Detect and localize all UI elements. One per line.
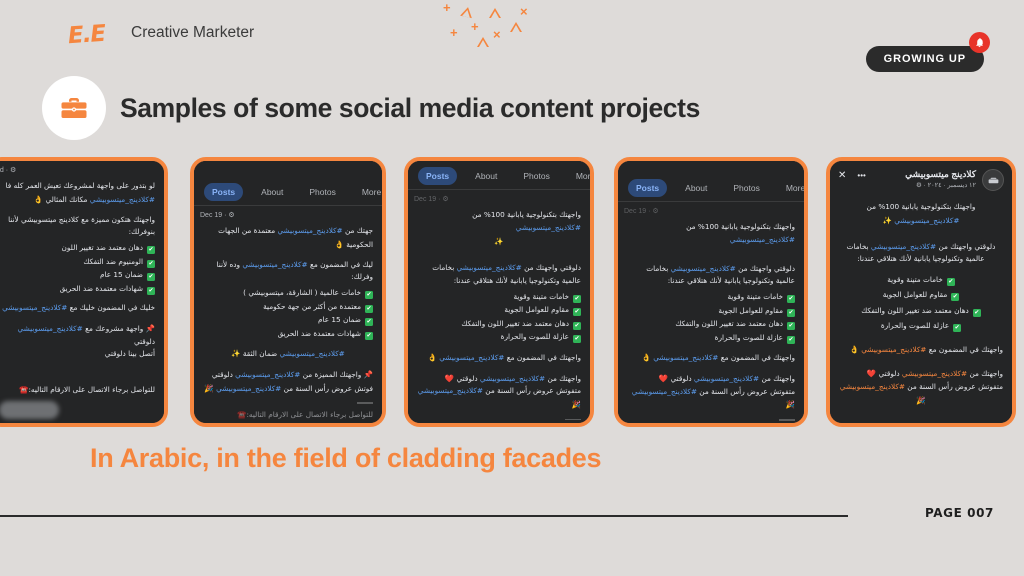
hashtag[interactable]: #كلادينج_ميتسوبيشي [439,353,504,362]
check-icon: ✔ [573,295,581,303]
check-icon: ✔ [947,278,955,286]
post-line: أتصل بينا دلوقتي [0,348,155,361]
check-icon: ✔ [787,336,795,344]
list-item: ✔شهادات معتمدة ضد الحريق [0,282,155,295]
post-text: جهتك من [345,226,373,235]
ok-hand-emoji: 👌 [850,345,859,354]
post-line: #كلادينج_ميتسوبيشي ضمان الثقة ✨ [203,347,373,361]
list-item: ✔دهان معتمد ضد تغيير اللون [0,241,155,254]
profile-tabbar[interactable]: Posts About Photos More▾ [408,161,590,190]
tab-about[interactable]: About [253,183,291,201]
tab-posts[interactable]: Posts [418,167,457,185]
hashtag[interactable]: #كلادينج_ميتسوبيشي [2,303,67,312]
profile-tabbar[interactable]: Posts About Photos More▾ [618,173,804,202]
list-item: ✔خامات متينة وقوية [839,272,1003,287]
post-text: متفوتش عروض رأس السنة من [699,387,795,396]
gear-icon: ⚙ [916,182,922,189]
tab-photos[interactable]: Photos [515,167,557,185]
post-line: متفوتش عروض رأس السنة من #كلادينج_ميتسوب… [417,385,581,412]
avatar[interactable] [982,169,1004,191]
post-body: لو بتدور على واجهة لمشروعك تعيش العمر كل… [0,176,164,423]
hashtag[interactable]: #كلادينج_ميتسوبيشي [861,345,926,354]
post-line: واجهتك في المضمون مع #كلادينج_ميتسوبيشي … [417,351,581,365]
post-timestamp: Dec 19 · ⚙ [408,190,590,205]
post-line: واجهتك من #كلادينج_ميتسوبيشي دلوقتي ❤️ [417,372,581,386]
feature-list: ✔خامات عالمية ( الشارقة، ميتسوبيشي ) ✔مع… [203,286,373,340]
ok-hand-emoji: 👌 [642,353,651,362]
confetti-decoration: + × + + × [425,0,555,55]
post-text: دلوقتي [457,374,478,383]
list-item: ✔خامات عالمية ( الشارقة، ميتسوبيشي ) [203,286,373,299]
post-body: واجهتك بتكنولوجية يابانية 100% من #كلادي… [830,193,1012,413]
hashtag[interactable]: #كلادينج_ميتسوبيشي [216,384,281,393]
hashtag[interactable]: #كلادينج_ميتسوبيشي [730,235,795,244]
hashtag[interactable]: #كلادينج_ميتسوبيشي [694,374,759,383]
post-text: ليك في المضمون مع [310,260,373,269]
post-text: ضمان الثقة [243,349,277,358]
check-icon: ✔ [365,318,373,326]
list-item: ✔عازلة للصوت والحرارة [417,330,581,343]
check-icon: ✔ [365,291,373,299]
post-text: واجهتك في المضمون مع [507,353,581,362]
check-icon: ✔ [973,309,981,317]
post-body: جهتك من #كلادينج_ميتسوبيشي معتمدة من الج… [194,221,382,423]
post-text: واجهة مشروعك مع [85,324,143,333]
check-icon: ✔ [147,246,155,254]
post-date: ١٢ ديسمبر · ٢٠٢٤ · ⚙ [872,181,976,191]
list-item: ✔ضمان 15 عام [203,313,373,326]
screenshot-card[interactable]: Posts About Photos More▾ Dec 19 · ⚙ جهتك… [190,157,386,427]
screenshot-card[interactable]: 1d · ⚙ لو بتدور على واجهة لمشروعك تعيش ا… [0,157,168,427]
hashtag[interactable]: #كلادينج_ميتسوبيشي [418,386,483,395]
post-text: واجهتك بتكنولوجية يابانية 100% من [472,210,581,219]
triangle-icon [460,6,474,18]
list-item: ✔خامات متينة وقوية [627,290,795,303]
hashtag[interactable]: #كلادينج_ميتسوبيشي [18,324,83,333]
post-line: جهتك من #كلادينج_ميتسوبيشي معتمدة من الج… [203,225,373,252]
post-text: دلوقتي واجهتك من [738,264,795,273]
feature-list: ✔دهان معتمد ضد تغيير اللون ✔الومنيوم ضد … [0,241,155,295]
list-item: ✔خامات متينة وقوية [417,290,581,303]
page-header: Samples of some social media content pro… [42,76,700,140]
list-item: ✔معتمدة من أكثر من جهة حكومية [203,300,373,313]
post-text: واجهتك في المضمون مع [929,345,1003,354]
post-text: فوتش عروض رأس السنة من [284,384,373,393]
post-line: واجهتك من #كلادينج_ميتسوبيشي دلوقتي ❤️ [627,372,795,386]
post-text: واجهتك بتكنولوجية يابانية 100% من [686,222,795,231]
contact-line: للتواصل برجاء الاتصال على الارقام التالي… [203,408,373,422]
triangle-icon [510,22,522,32]
check-icon: ✔ [147,260,155,268]
contact-line: للتواصل برجاء الاتصال على الارقام التالي… [0,383,155,397]
screenshot-card[interactable]: Posts About Photos More▾ Dec 19 · ⚙ واجه… [404,157,594,427]
post-text: واجهتك من [547,374,581,383]
feature-list: ✔خامات متينة وقوية ✔مقاوم للعوامل الجوية… [417,290,581,344]
check-icon: ✔ [147,287,155,295]
post-line: فوتش عروض رأس السنة من #كلادينج_ميتسوبيش… [203,382,373,396]
hashtag[interactable]: #كلادينج_ميتسوبيشي [894,216,959,225]
post-line: خليك في المضمون خليك مع #كلادينج_ميتسوبي… [0,302,155,315]
post-body: واجهتك بتكنولوجية يابانية 100% من #كلادي… [408,205,590,423]
hashtag[interactable]: #كلادينج_ميتسوبيشي [457,263,522,272]
party-emoji: 🎉 [916,396,925,405]
profile-tabbar[interactable]: Posts About Photos More▾ [194,177,382,206]
party-emoji: 🎉 [786,400,795,409]
pin-emoji: 📌 [146,324,155,333]
hashtag[interactable]: #كلادينج_ميتسوبيشي [90,195,155,204]
list-item: ✔ضمان 15 عام [0,268,155,281]
tab-about[interactable]: About [677,179,715,197]
post-line: ✨ [417,235,581,249]
screenshot-card[interactable]: Posts About Photos More▾ Dec 19 · ⚙ واجه… [614,157,808,427]
post-line: واجهتك بتكنولوجية يابانية 100% من [839,201,1003,214]
post-line: دلوقتي واجهتك من #كلادينج_ميتسوبيشي بخام… [417,262,581,288]
check-icon: ✔ [365,305,373,313]
post-line: واجهتك من #كلادينج_ميتسوبيشي دلوقتي ❤️ [839,367,1003,381]
tab-more[interactable]: More▾ [568,167,590,185]
footer-divider [0,515,848,517]
check-icon: ✔ [787,295,795,303]
page-title: Samples of some social media content pro… [120,93,700,124]
tab-posts[interactable]: Posts [628,179,667,197]
post-text: متفوتش عروض رأس السنة من [907,382,1003,391]
gear-icon: ⚙ [10,167,16,174]
heart-emoji: ❤️ [659,374,668,383]
screenshot-card[interactable]: كلادينج ميتسوبيشي ١٢ ديسمبر · ٢٠٢٤ · ⚙ ✕… [826,157,1016,427]
post-line: 🎉 [839,394,1003,408]
post-text: دلوقتي [671,374,692,383]
post-header: كلادينج ميتسوبيشي ١٢ ديسمبر · ٢٠٢٤ · ⚙ ✕… [830,161,1012,193]
ok-hand-emoji: 👌 [428,353,437,362]
list-item: ✔عازلة للصوت والحرارة [839,318,1003,333]
check-icon: ✔ [573,308,581,316]
list-item: ✔شهادات معتمدة ضد الحريق [203,327,373,340]
plus-mark-icon: × [520,5,528,18]
post-timestamp: Dec 19 · ⚙ [194,206,382,221]
sparkle-emoji: ✨ [883,216,892,225]
check-icon: ✔ [147,273,155,281]
post-line: واجهتك بتكنولوجية يابانية 100% من #كلادي… [627,221,795,247]
hashtag[interactable]: #كلادينج_ميتسوبيشي [480,374,545,383]
post-line: دلوقتي واجهتك من #كلادينج_ميتسوبيشي بخام… [839,241,1003,267]
party-emoji: 🎉 [572,400,581,409]
sparkle-emoji: ✨ [231,349,240,358]
screenshot-gallery: 1d · ⚙ لو بتدور على واجهة لمشروعك تعيش ا… [0,157,1024,429]
hashtag[interactable]: #كلادينج_ميتسوبيشي [840,382,905,391]
plus-mark-icon: × [493,28,501,41]
hashtag[interactable]: #كلادينج_ميتسوبيشي [242,260,307,269]
list-item: ✔مقاوم للعوامل الجوية [417,303,581,316]
list-item: ✔مقاوم للعوامل الجوية [839,287,1003,302]
divider [779,419,795,421]
check-icon: ✔ [951,293,959,301]
list-item: ✔الومنيوم ضد التفكك [0,255,155,268]
check-icon: ✔ [365,332,373,340]
ok-hand-emoji: 👌 [34,195,43,204]
hashtag[interactable]: #كلادينج_ميتسوبيشي [871,242,936,251]
post-line: متفوتش عروض رأس السنة من #كلادينج_ميتسوب… [627,386,795,413]
tab-more[interactable]: More▾ [354,183,382,201]
close-icon[interactable]: ✕ [838,170,846,181]
gear-icon: ⚙ [652,208,658,215]
growing-up-label[interactable]: GROWING UP [866,46,984,72]
page-name[interactable]: كلادينج ميتسوبيشي [872,169,976,181]
heart-emoji: ❤️ [867,369,876,378]
bell-icon [969,32,990,53]
post-text: دلوقتي [134,337,155,346]
hashtag[interactable]: #كلادينج_ميتسوبيشي [516,223,581,232]
tab-posts[interactable]: Posts [204,183,243,201]
triangle-icon [489,8,501,18]
hashtag[interactable]: #كلادينج_ميتسوبيشي [653,353,718,362]
pin-emoji: 📌 [364,370,373,379]
divider [565,419,581,421]
tab-about[interactable]: About [467,167,505,185]
redacted-phone-number [0,401,59,419]
divider [357,402,373,404]
post-line: دلوقتي واجهتك من #كلادينج_ميتسوبيشي بخام… [627,263,795,289]
post-timestamp: 1d · ⚙ [0,161,164,176]
post-text: واجهتك من [761,374,795,383]
post-line: واجهتك في المضمون مع #كلادينج_ميتسوبيشي … [627,351,795,365]
list-item: ✔عازلة للصوت والحرارة [627,331,795,344]
post-line: واجهتك في المضمون مع #كلادينج_ميتسوبيشي … [839,343,1003,357]
post-text: دلوقتي واجهتك من [938,242,995,251]
check-icon: ✔ [573,335,581,343]
more-options-icon[interactable]: ••• [857,171,865,180]
hashtag[interactable]: #كلادينج_ميتسوبيشي [235,370,300,379]
list-item: ✔دهان معتمد ضد تغيير اللون والتفكك [627,317,795,330]
post-text: دلوقتي [879,369,900,378]
section-caption: In Arabic, in the field of cladding faca… [90,443,601,474]
post-line: #كلادينج_ميتسوبيشي مكانك المثالي 👌 [0,193,155,207]
hashtag[interactable]: #كلادينج_ميتسوبيشي [277,226,342,235]
post-line: 📌 واجهتك المميزة من #كلادينج_ميتسوبيشي د… [203,368,373,382]
briefcase-icon [42,76,106,140]
brand-logo: E.E [67,21,106,50]
hashtag[interactable]: #كلادينج_ميتسوبيشي [280,349,345,358]
feature-list: ✔خامات متينة وقوية ✔مقاوم للعوامل الجوية… [627,290,795,344]
party-emoji: 🎉 [204,384,213,393]
post-line: ليك في المضمون مع #كلادينج_ميتسوبيشي وده… [203,259,373,285]
post-text: واجهتك من [969,369,1003,378]
post-text: دلوقتي واجهتك من [524,263,581,272]
list-item: ✔مقاوم للعوامل الجوية [627,304,795,317]
post-text: واجهتك المميزة من [303,370,362,379]
gear-icon: ⚙ [442,196,448,203]
post-text: مكانك المثالي [46,195,88,204]
plus-mark-icon: + [471,20,479,33]
growing-up-badge[interactable]: GROWING UP [866,46,984,72]
check-icon: ✔ [573,322,581,330]
list-item: ✔دهان معتمد ضد تغيير اللون والتفكك [839,303,1003,318]
post-text: متفوتش عروض رأس السنة من [485,386,581,395]
check-icon: ✔ [953,324,961,332]
post-timestamp: Dec 19 · ⚙ [618,202,804,217]
post-text: دلوقتي [212,370,233,379]
post-line: لو بتدور على واجهة لمشروعك تعيش العمر كل… [0,180,155,193]
post-text: واجهتك في المضمون مع [721,353,795,362]
post-line: واجهتك هتكون مميزة مع كلادينج ميتسوبيشي … [0,214,155,240]
triangle-icon [477,37,489,47]
check-icon: ✔ [787,309,795,317]
sparkle-emoji: ✨ [494,237,503,246]
post-line: 📌 واجهة مشروعك مع #كلادينج_ميتسوبيشي دلو… [0,322,155,349]
plus-mark-icon: + [443,1,451,14]
hashtag[interactable]: #كلادينج_ميتسوبيشي [632,387,697,396]
tab-photos[interactable]: Photos [725,179,767,197]
page-number: PAGE 007 [925,506,994,520]
tab-photos[interactable]: Photos [301,183,343,201]
hashtag[interactable]: #كلادينج_ميتسوبيشي [671,264,736,273]
post-line: #كلادينج_ميتسوبيشي ✨ [839,214,1003,228]
hashtag[interactable]: #كلادينج_ميتسوبيشي [902,369,967,378]
list-item: ✔دهان معتمد ضد تغيير اللون والتفكك [417,317,581,330]
post-line: متفوتش عروض رأس السنة من #كلادينج_ميتسوب… [839,381,1003,394]
brand-role: Creative Marketer [131,24,254,42]
plus-mark-icon: + [450,26,458,39]
post-line: واجهتك بتكنولوجية يابانية 100% من #كلادي… [417,209,581,235]
check-icon: ✔ [787,322,795,330]
post-body: واجهتك بتكنولوجية يابانية 100% من #كلادي… [618,217,804,423]
heart-emoji: ❤️ [445,374,454,383]
tab-more[interactable]: More▾ [778,179,804,197]
post-text: خليك في المضمون خليك مع [70,303,155,312]
ok-hand-emoji: 👌 [335,240,344,249]
feature-list: ✔خامات متينة وقوية ✔مقاوم للعوامل الجوية… [839,272,1003,333]
gear-icon: ⚙ [228,212,234,219]
